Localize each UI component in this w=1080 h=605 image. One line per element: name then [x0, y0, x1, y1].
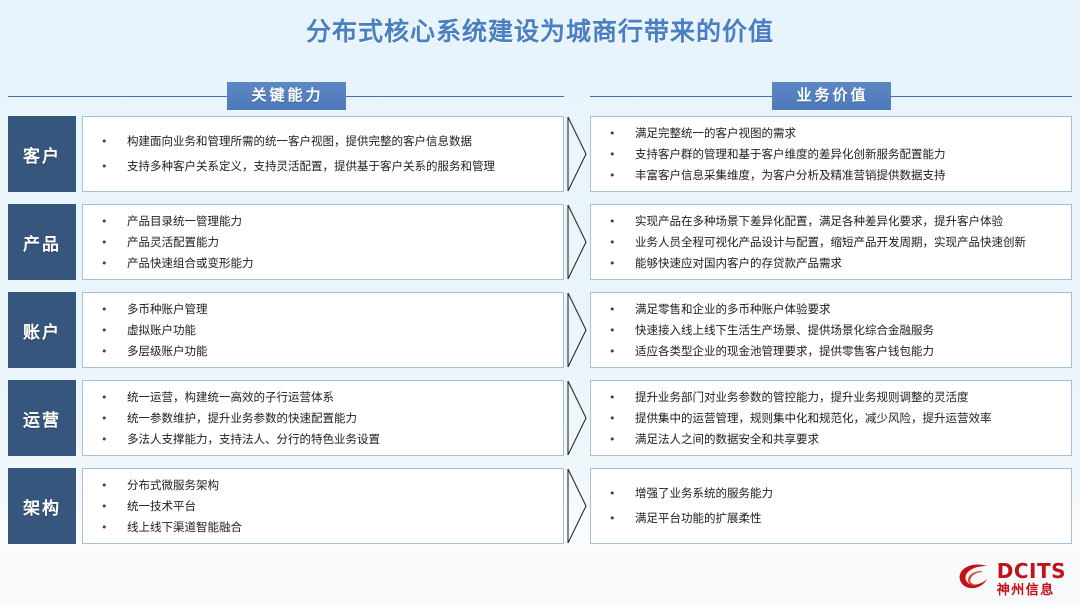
column-header-values-badge: 业务价值 — [772, 82, 891, 110]
chevron-right-icon — [566, 203, 588, 281]
column-header-values: 业务价值 — [590, 82, 1072, 110]
bullet-item: •业务人员全程可视化产品设计与配置，缩短产品开发周期，实现产品快速创新 — [609, 235, 1061, 250]
bullet-text: 满足平台功能的扩展柔性 — [635, 511, 1061, 526]
bullet-item: •满足零售和企业的多币种账户体验要求 — [609, 302, 1061, 317]
capabilities-panel: •产品目录统一管理能力•产品灵活配置能力•产品快速组合或变形能力 — [82, 204, 564, 280]
bullet-dot-icon: • — [101, 302, 127, 317]
bullet-text: 满足法人之间的数据安全和共享要求 — [635, 432, 1061, 447]
bullet-dot-icon: • — [609, 256, 635, 271]
bullet-dot-icon: • — [609, 486, 635, 501]
bullet-item: •线上线下渠道智能融合 — [101, 520, 553, 535]
bullet-item: •适应各类型企业的现金池管理要求，提供零售客户钱包能力 — [609, 344, 1061, 359]
value-row: 账户•多币种账户管理•虚拟账户功能•多层级账户功能•满足零售和企业的多币种账户体… — [0, 292, 1080, 368]
chevron-right-icon — [566, 115, 588, 193]
column-header-capabilities-badge: 关键能力 — [227, 82, 346, 110]
bullet-item: •虚拟账户功能 — [101, 323, 553, 338]
bullet-text: 构建面向业务和管理所需的统一客户视图，提供完整的客户信息数据 — [127, 134, 553, 149]
bullet-item: •提供集中的运营管理，规则集中化和规范化，减少风险，提升运营效率 — [609, 411, 1061, 426]
bullet-dot-icon: • — [609, 235, 635, 250]
bullet-dot-icon: • — [609, 168, 635, 183]
header-rule-left — [8, 96, 227, 97]
category-label[interactable]: 运营 — [8, 380, 76, 456]
bullet-item: •多币种账户管理 — [101, 302, 553, 317]
chevron-right-icon — [566, 379, 588, 457]
bullet-item: •产品快速组合或变形能力 — [101, 256, 553, 271]
bullet-item: •统一技术平台 — [101, 499, 553, 514]
bullet-text: 产品灵活配置能力 — [127, 235, 553, 250]
slide-canvas: 分布式核心系统建设为城商行带来的价值 关键能力 业务价值 客户•构建面向业务和管… — [0, 0, 1080, 605]
bullet-item: •满足法人之间的数据安全和共享要求 — [609, 432, 1061, 447]
brand-logo: DCITS 神州信息 — [957, 561, 1066, 597]
bullet-dot-icon: • — [101, 214, 127, 229]
bullet-text: 统一技术平台 — [127, 499, 553, 514]
bullet-text: 增强了业务系统的服务能力 — [635, 486, 1061, 501]
bullet-dot-icon: • — [609, 432, 635, 447]
bullet-item: •丰富客户信息采集维度，为客户分析及精准营销提供数据支持 — [609, 168, 1061, 183]
bullet-text: 快速接入线上线下生活生产场景、提供场景化综合金融服务 — [635, 323, 1061, 338]
value-row: 客户•构建面向业务和管理所需的统一客户视图，提供完整的客户信息数据•支持多种客户… — [0, 116, 1080, 192]
bullet-text: 能够快速应对国内客户的存贷款产品需求 — [635, 256, 1061, 271]
bullet-item: •实现产品在多种场景下差异化配置，满足各种差异化要求，提升客户体验 — [609, 214, 1061, 229]
column-header-capabilities: 关键能力 — [8, 82, 564, 110]
header-rule-right — [590, 96, 772, 97]
bullet-dot-icon: • — [101, 390, 127, 405]
bullet-text: 多币种账户管理 — [127, 302, 553, 317]
bullet-dot-icon: • — [609, 511, 635, 526]
bullet-dot-icon: • — [609, 214, 635, 229]
bullet-dot-icon: • — [609, 344, 635, 359]
bullet-dot-icon: • — [101, 256, 127, 271]
values-panel: •满足零售和企业的多币种账户体验要求•快速接入线上线下生活生产场景、提供场景化综… — [590, 292, 1072, 368]
bullet-item: •多法人支撑能力，支持法人、分行的特色业务设置 — [101, 432, 553, 447]
capabilities-panel: •分布式微服务架构•统一技术平台•线上线下渠道智能融合 — [82, 468, 564, 544]
bullet-text: 虚拟账户功能 — [127, 323, 553, 338]
bullet-text: 多层级账户功能 — [127, 344, 553, 359]
bullet-dot-icon: • — [101, 134, 127, 149]
bullet-dot-icon: • — [609, 126, 635, 141]
logo-text-en: DCITS — [997, 561, 1066, 581]
bullet-text: 支持多种客户关系定义，支持灵活配置，提供基于客户关系的服务和管理 — [127, 159, 553, 174]
bullet-text: 满足零售和企业的多币种账户体验要求 — [635, 302, 1061, 317]
bullet-dot-icon: • — [609, 147, 635, 162]
values-panel: •满足完整统一的客户视图的需求•支持客户群的管理和基于客户维度的差异化创新服务配… — [590, 116, 1072, 192]
bullet-item: •多层级账户功能 — [101, 344, 553, 359]
bullet-dot-icon: • — [101, 159, 127, 174]
bullet-item: •产品目录统一管理能力 — [101, 214, 553, 229]
values-panel: •增强了业务系统的服务能力•满足平台功能的扩展柔性 — [590, 468, 1072, 544]
bullet-dot-icon: • — [101, 432, 127, 447]
logo-text-cn: 神州信息 — [997, 584, 1066, 597]
bullet-dot-icon: • — [101, 411, 127, 426]
bullet-item: •提升业务部门对业务参数的管控能力，提升业务规则调整的灵活度 — [609, 390, 1061, 405]
bullet-text: 提供集中的运营管理，规则集中化和规范化，减少风险，提升运营效率 — [635, 411, 1061, 426]
bullet-item: •支持多种客户关系定义，支持灵活配置，提供基于客户关系的服务和管理 — [101, 159, 553, 174]
bullet-text: 分布式微服务架构 — [127, 478, 553, 493]
bullet-item: •分布式微服务架构 — [101, 478, 553, 493]
bullet-item: •快速接入线上线下生活生产场景、提供场景化综合金融服务 — [609, 323, 1061, 338]
bullet-item: •增强了业务系统的服务能力 — [609, 486, 1061, 501]
bullet-item: •产品灵活配置能力 — [101, 235, 553, 250]
category-label[interactable]: 产品 — [8, 204, 76, 280]
bullet-item: •支持客户群的管理和基于客户维度的差异化创新服务配置能力 — [609, 147, 1061, 162]
bullet-item: •统一参数维护，提升业务参数的快速配置能力 — [101, 411, 553, 426]
header-rule-right-2 — [891, 96, 1073, 97]
bullet-text: 统一参数维护，提升业务参数的快速配置能力 — [127, 411, 553, 426]
value-row: 运营•统一运营，构建统一高效的子行运营体系•统一参数维护，提升业务参数的快速配置… — [0, 380, 1080, 456]
bullet-dot-icon: • — [609, 411, 635, 426]
dcits-swirl-icon — [957, 562, 991, 596]
chevron-right-icon — [566, 291, 588, 369]
bullet-text: 支持客户群的管理和基于客户维度的差异化创新服务配置能力 — [635, 147, 1061, 162]
bullet-text: 丰富客户信息采集维度，为客户分析及精准营销提供数据支持 — [635, 168, 1061, 183]
bullet-item: •满足平台功能的扩展柔性 — [609, 511, 1061, 526]
bullet-item: •构建面向业务和管理所需的统一客户视图，提供完整的客户信息数据 — [101, 134, 553, 149]
bullet-dot-icon: • — [609, 390, 635, 405]
bullet-text: 线上线下渠道智能融合 — [127, 520, 553, 535]
bullet-text: 提升业务部门对业务参数的管控能力，提升业务规则调整的灵活度 — [635, 390, 1061, 405]
bullet-text: 适应各类型企业的现金池管理要求，提供零售客户钱包能力 — [635, 344, 1061, 359]
category-label[interactable]: 账户 — [8, 292, 76, 368]
category-label[interactable]: 客户 — [8, 116, 76, 192]
values-panel: •提升业务部门对业务参数的管控能力，提升业务规则调整的灵活度•提供集中的运营管理… — [590, 380, 1072, 456]
bullet-text: 多法人支撑能力，支持法人、分行的特色业务设置 — [127, 432, 553, 447]
bullet-dot-icon: • — [101, 520, 127, 535]
bullet-text: 产品快速组合或变形能力 — [127, 256, 553, 271]
capabilities-panel: •构建面向业务和管理所需的统一客户视图，提供完整的客户信息数据•支持多种客户关系… — [82, 116, 564, 192]
capabilities-panel: •多币种账户管理•虚拟账户功能•多层级账户功能 — [82, 292, 564, 368]
bullet-text: 实现产品在多种场景下差异化配置，满足各种差异化要求，提升客户体验 — [635, 214, 1061, 229]
bullet-item: •满足完整统一的客户视图的需求 — [609, 126, 1061, 141]
bullet-dot-icon: • — [101, 235, 127, 250]
bullet-text: 业务人员全程可视化产品设计与配置，缩短产品开发周期，实现产品快速创新 — [635, 235, 1061, 250]
category-label[interactable]: 架构 — [8, 468, 76, 544]
bullet-dot-icon: • — [101, 478, 127, 493]
bullet-dot-icon: • — [101, 323, 127, 338]
values-panel: •实现产品在多种场景下差异化配置，满足各种差异化要求，提升客户体验•业务人员全程… — [590, 204, 1072, 280]
bullet-text: 满足完整统一的客户视图的需求 — [635, 126, 1061, 141]
capabilities-panel: •统一运营，构建统一高效的子行运营体系•统一参数维护，提升业务参数的快速配置能力… — [82, 380, 564, 456]
bullet-dot-icon: • — [609, 323, 635, 338]
bullet-dot-icon: • — [609, 302, 635, 317]
page-title: 分布式核心系统建设为城商行带来的价值 — [0, 12, 1080, 48]
bullet-item: •统一运营，构建统一高效的子行运营体系 — [101, 390, 553, 405]
value-row: 产品•产品目录统一管理能力•产品灵活配置能力•产品快速组合或变形能力•实现产品在… — [0, 204, 1080, 280]
value-row: 架构•分布式微服务架构•统一技术平台•线上线下渠道智能融合•增强了业务系统的服务… — [0, 468, 1080, 544]
bullet-dot-icon: • — [101, 344, 127, 359]
bullet-item: •能够快速应对国内客户的存贷款产品需求 — [609, 256, 1061, 271]
bullet-text: 统一运营，构建统一高效的子行运营体系 — [127, 390, 553, 405]
chevron-right-icon — [566, 467, 588, 545]
bullet-text: 产品目录统一管理能力 — [127, 214, 553, 229]
bullet-dot-icon: • — [101, 499, 127, 514]
header-rule-left-2 — [346, 96, 565, 97]
